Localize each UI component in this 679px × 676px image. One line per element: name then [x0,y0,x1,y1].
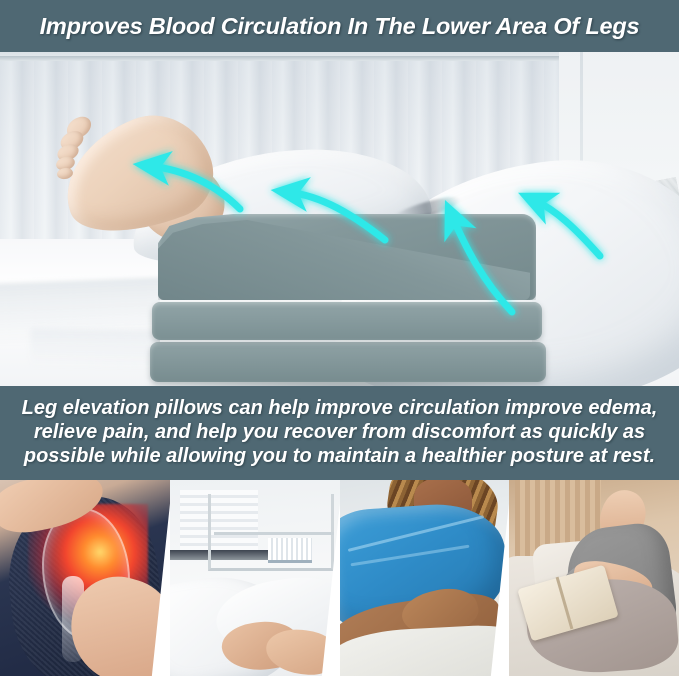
wedge-pillow [150,214,550,389]
pregnant-woman-panel [509,480,679,676]
product-infographic: Improves Blood Circulation In The Lower … [0,0,679,676]
knee-pain-panel [0,480,170,676]
shelf-rail [214,532,334,535]
caption-line: possible while allowing you to maintain … [24,444,655,468]
caption-line: Leg elevation pillows can help improve c… [22,396,658,420]
caption-line: relieve pain, and help you recover from … [34,420,645,444]
pillow-seam [160,340,532,342]
doctor-patient-panel [170,480,340,676]
caption-block: Leg elevation pillows can help improve c… [0,386,679,478]
photo-strip [0,480,679,676]
page-title: Improves Blood Circulation In The Lower … [40,13,640,40]
header-banner: Improves Blood Circulation In The Lower … [0,0,679,52]
pillow-layer-bottom [150,342,546,382]
vial-tray [268,538,312,563]
hero-photo [0,44,679,389]
hospital-patient-panel [340,480,510,676]
pillow-layer-middle [152,302,542,340]
hero-scene [0,44,679,389]
pillow-seam [160,300,532,302]
